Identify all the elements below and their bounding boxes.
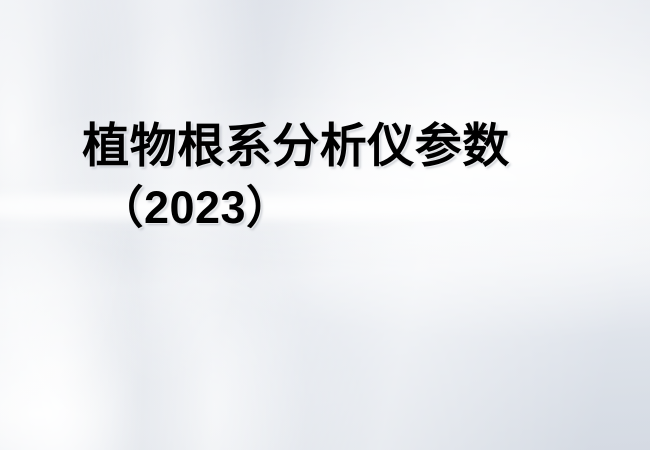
title-slide: 植物根系分析仪参数 （2023）	[0, 0, 650, 450]
page-title: 植物根系分析仪参数 （2023）	[0, 118, 650, 235]
title-sub-line: （2023）	[0, 181, 650, 234]
title-main-line: 植物根系分析仪参数	[0, 118, 650, 173]
